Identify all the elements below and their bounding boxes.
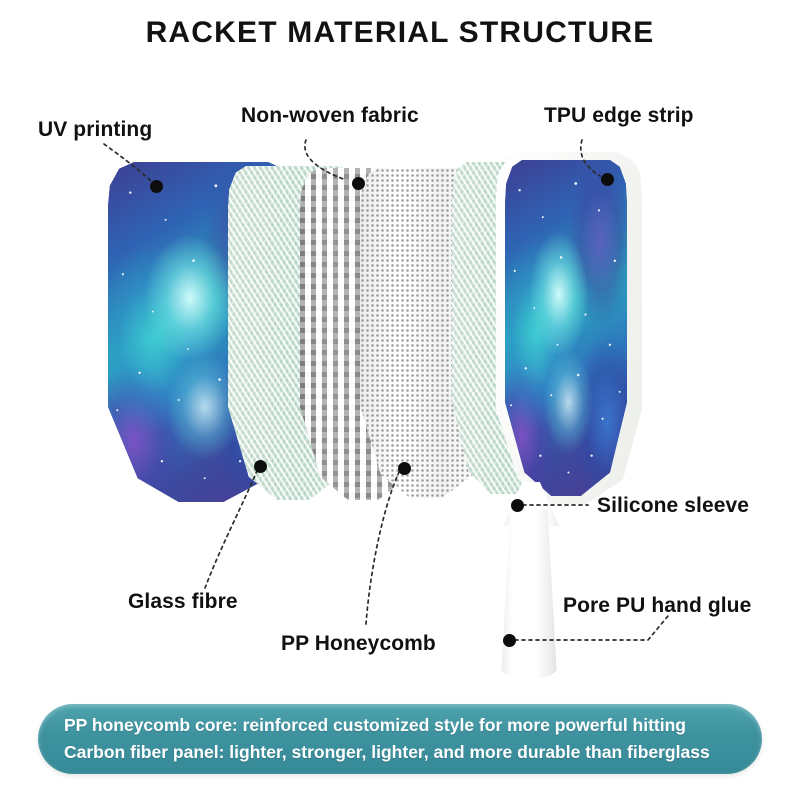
feature-caption-banner: PP honeycomb core: reinforced customized… [38,704,762,774]
caption-line-1: PP honeycomb core: reinforced customized… [64,712,736,739]
infographic-page: RACKET MATERIAL STRUCTURE [0,0,800,800]
label-silicone-sleeve: Silicone sleeve [597,494,749,518]
anchor-dot-non-woven-fabric [352,177,365,190]
caption-line-2: Carbon fiber panel: lighter, stronger, l… [64,739,736,766]
label-uv-printing: UV printing [38,118,152,142]
label-non-woven-fabric: Non-woven fabric [241,104,419,128]
anchor-dot-uv-printing [150,180,163,193]
layer-assembled-galaxy-paddle [505,160,627,496]
label-pore-pu-hand-glue: Pore PU hand glue [563,594,751,618]
anchor-dot-pp-honeycomb [398,462,411,475]
star-speckle-texture-assembled [505,160,627,496]
anchor-dot-silicone-sleeve [511,499,524,512]
anchor-dot-tpu-edge-strip [601,173,614,186]
racket-handle [496,510,562,678]
label-glass-fibre: Glass fibre [128,590,238,614]
anchor-dot-pore-pu-hand-glue [503,634,516,647]
label-tpu-edge-strip: TPU edge strip [544,104,694,128]
label-pp-honeycomb: PP Honeycomb [281,632,436,656]
anchor-dot-glass-fibre [254,460,267,473]
